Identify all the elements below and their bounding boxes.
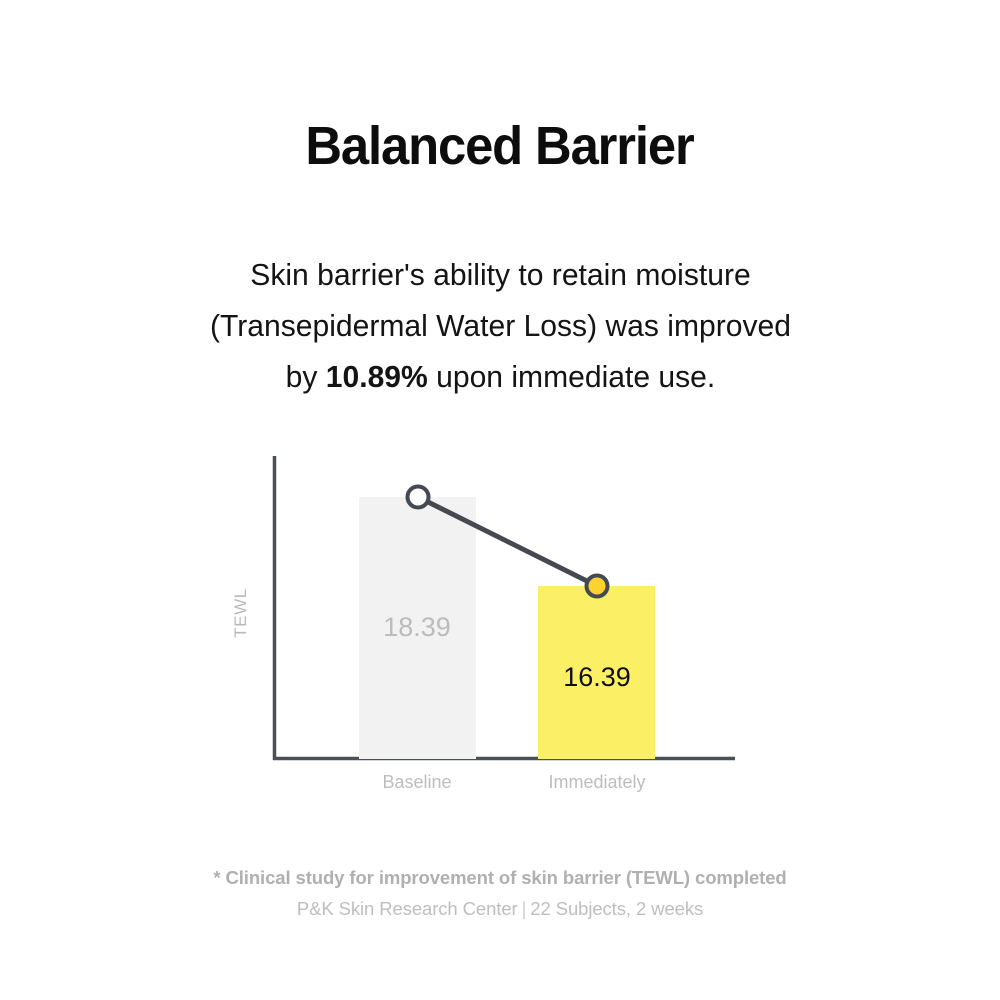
value-label-immediately: 16.39 xyxy=(563,662,631,692)
subtitle-block: Skin barrier's ability to retain moistur… xyxy=(209,249,790,402)
y-axis-label: TEWL xyxy=(231,588,250,638)
improvement-percent: 10.89% xyxy=(325,359,427,394)
subtitle-line-3-before: by xyxy=(285,359,325,394)
subtitle-line-2: (Transepidermal Water Loss) was improved xyxy=(209,300,790,351)
promo-infographic: Balanced Barrier Skin barrier's ability … xyxy=(0,0,1000,1000)
footnote-line-1: * Clinical study for improvement of skin… xyxy=(213,862,786,893)
footnote-separator: | xyxy=(518,898,531,919)
subtitle-line-3: by 10.89% upon immediate use. xyxy=(209,351,790,402)
footnote-subjects: 22 Subjects, 2 weeks xyxy=(530,898,703,919)
marker-baseline xyxy=(408,486,429,507)
footnote-research-center: P&K Skin Research Center xyxy=(297,898,518,919)
subtitle-line-1: Skin barrier's ability to retain moistur… xyxy=(209,249,790,300)
value-label-baseline: 18.39 xyxy=(383,612,451,642)
tewl-bar-chart: TEWL 18.39 16.39 Baseline Immediately xyxy=(0,438,1000,818)
category-label-baseline: Baseline xyxy=(382,772,451,792)
footnote-block: * Clinical study for improvement of skin… xyxy=(213,862,786,924)
category-label-immediately: Immediately xyxy=(548,772,645,792)
footnote-line-2: P&K Skin Research Center|22 Subjects, 2 … xyxy=(213,893,786,924)
chart-svg: TEWL 18.39 16.39 Baseline Immediately xyxy=(0,438,1000,818)
marker-immediately xyxy=(587,575,608,596)
subtitle-line-3-after: upon immediate use. xyxy=(427,359,715,394)
page-title: Balanced Barrier xyxy=(306,118,694,175)
